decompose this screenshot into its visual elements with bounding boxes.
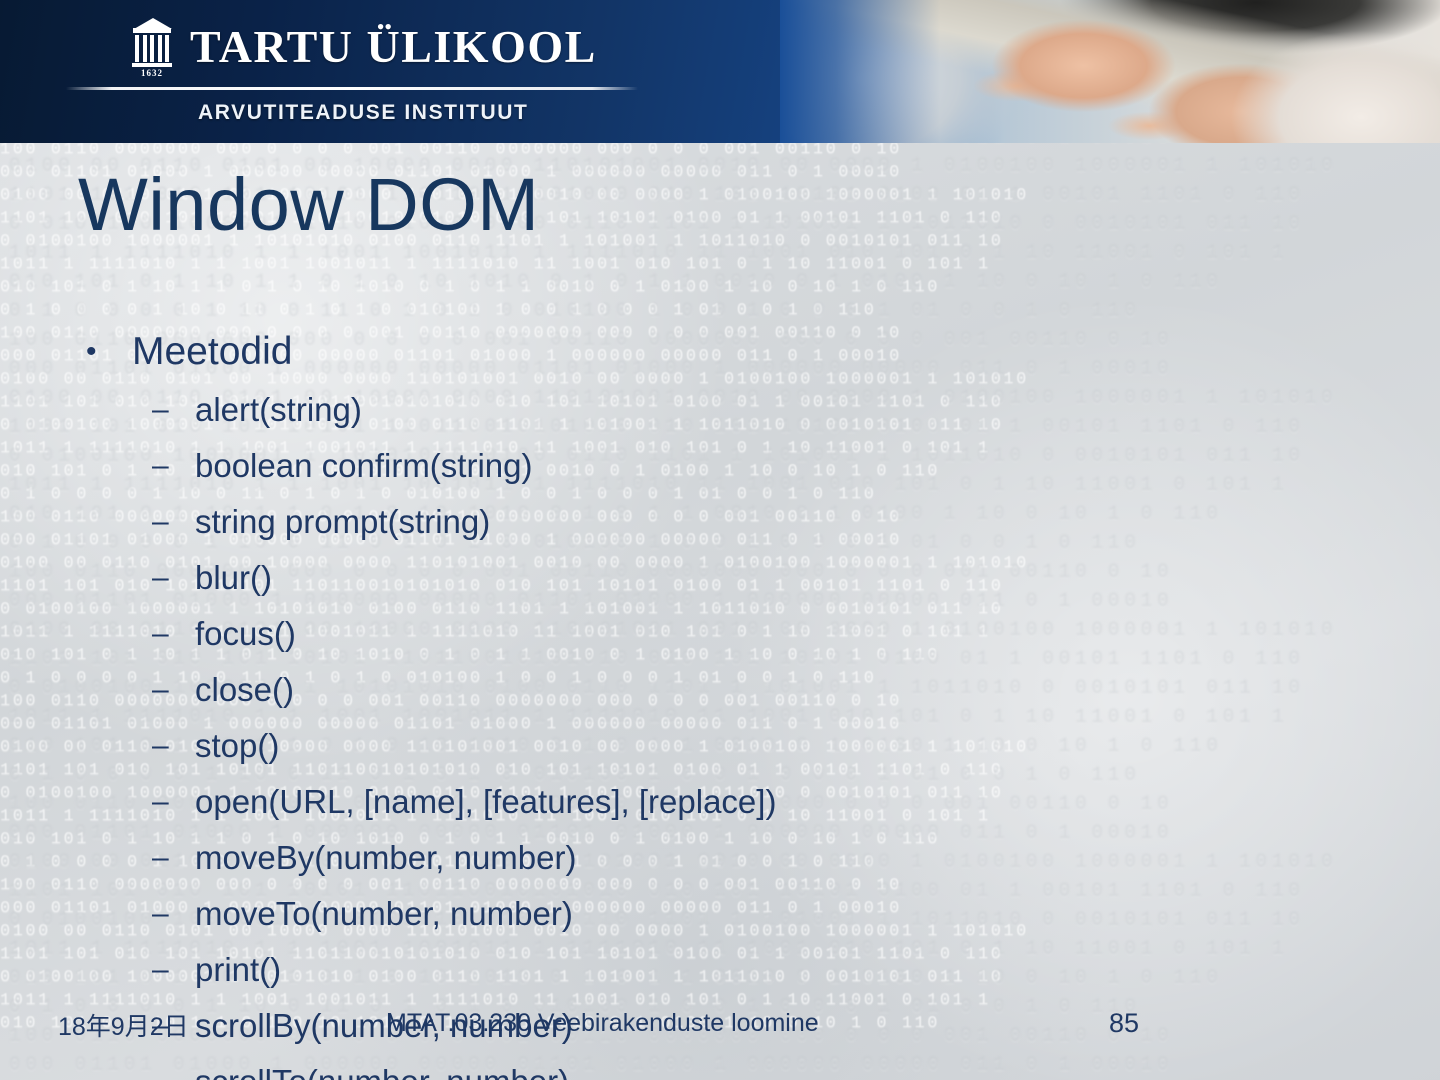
crest-columns-shape (135, 35, 169, 62)
bullet-dash-icon: – (152, 1054, 169, 1080)
bullet-dash-icon: – (152, 886, 169, 942)
outline-item-level2: –open(URL, [name], [features], [replace]… (78, 774, 1368, 830)
outline-item-label: boolean confirm(string) (195, 447, 532, 484)
outline-item-level2: –focus() (78, 606, 1368, 662)
outline-item-level2: –string prompt(string) (78, 494, 1368, 550)
outline-item-label: moveBy(number, number) (195, 839, 576, 876)
institute-name-label: ARVUTITEADUSE INSTITUUT (198, 101, 652, 125)
outline-item-label: blur() (195, 559, 272, 596)
bullet-dash-icon: – (152, 942, 169, 998)
logo-top-row: 1632 TARTU ÜLIKOOL (132, 16, 652, 78)
logo-divider-rule (66, 87, 638, 90)
outline-item-label: Meetodid (132, 330, 292, 373)
outline-item-level2: –scrollBy(number, number) (78, 998, 1368, 1054)
crest-year-label: 1632 (132, 68, 172, 78)
outline-item-level2: –close() (78, 662, 1368, 718)
outline-item-label: string prompt(string) (195, 503, 490, 540)
university-crest-icon: 1632 (132, 16, 176, 78)
outline-item-level1: •Meetodid (78, 322, 1368, 382)
outline-item-label: close() (195, 671, 294, 708)
outline-item-level2: –moveBy(number, number) (78, 830, 1368, 886)
bullet-dash-icon: – (152, 382, 169, 438)
bullet-dash-icon: – (152, 998, 169, 1054)
bullet-dash-icon: – (152, 662, 169, 718)
bullet-dot-icon: • (86, 322, 97, 382)
bullet-dash-icon: – (152, 550, 169, 606)
outline-item-label: stop() (195, 727, 279, 764)
outline-item-level2: –scrollTo(number, number) (78, 1054, 1368, 1080)
university-name-label: TARTU ÜLIKOOL (190, 24, 597, 70)
outline-item-label: focus() (195, 615, 296, 652)
presentation-slide: 0100 00 0110 0101 00 10000 0000 11010100… (0, 0, 1440, 1080)
outline-item-label: alert(string) (195, 391, 362, 428)
hands-typing-keyboard-photo (780, 0, 1440, 143)
outline-item-level2: –print() (78, 942, 1368, 998)
bullet-dash-icon: – (152, 606, 169, 662)
outline-item-label: scrollTo(number, number) (195, 1063, 569, 1080)
bullet-dash-icon: – (152, 774, 169, 830)
slide-title: Window DOM (78, 166, 539, 244)
bullet-dash-icon: – (152, 830, 169, 886)
bullet-dash-icon: – (152, 718, 169, 774)
crest-base-shape (132, 63, 172, 67)
outline-item-level2: –moveTo(number, number) (78, 886, 1368, 942)
crest-architrave-shape (133, 28, 171, 33)
slide-content-outline: •Meetodid–alert(string)–boolean confirm(… (78, 322, 1368, 1080)
outline-item-label: scrollBy(number, number) (195, 1007, 573, 1044)
outline-item-label: moveTo(number, number) (195, 895, 573, 932)
university-logo: 1632 TARTU ÜLIKOOL ARVUTITEADUSE INSTITU… (132, 16, 652, 125)
outline-item-level2: –stop() (78, 718, 1368, 774)
outline-item-level2: –blur() (78, 550, 1368, 606)
outline-item-label: print() (195, 951, 281, 988)
outline-item-label: open(URL, [name], [features], [replace]) (195, 783, 776, 820)
outline-item-level2: –boolean confirm(string) (78, 438, 1368, 494)
bullet-dash-icon: – (152, 438, 169, 494)
bullet-dash-icon: – (152, 494, 169, 550)
slide-header-banner: 1632 TARTU ÜLIKOOL ARVUTITEADUSE INSTITU… (0, 0, 1440, 143)
outline-item-level2: –alert(string) (78, 382, 1368, 438)
